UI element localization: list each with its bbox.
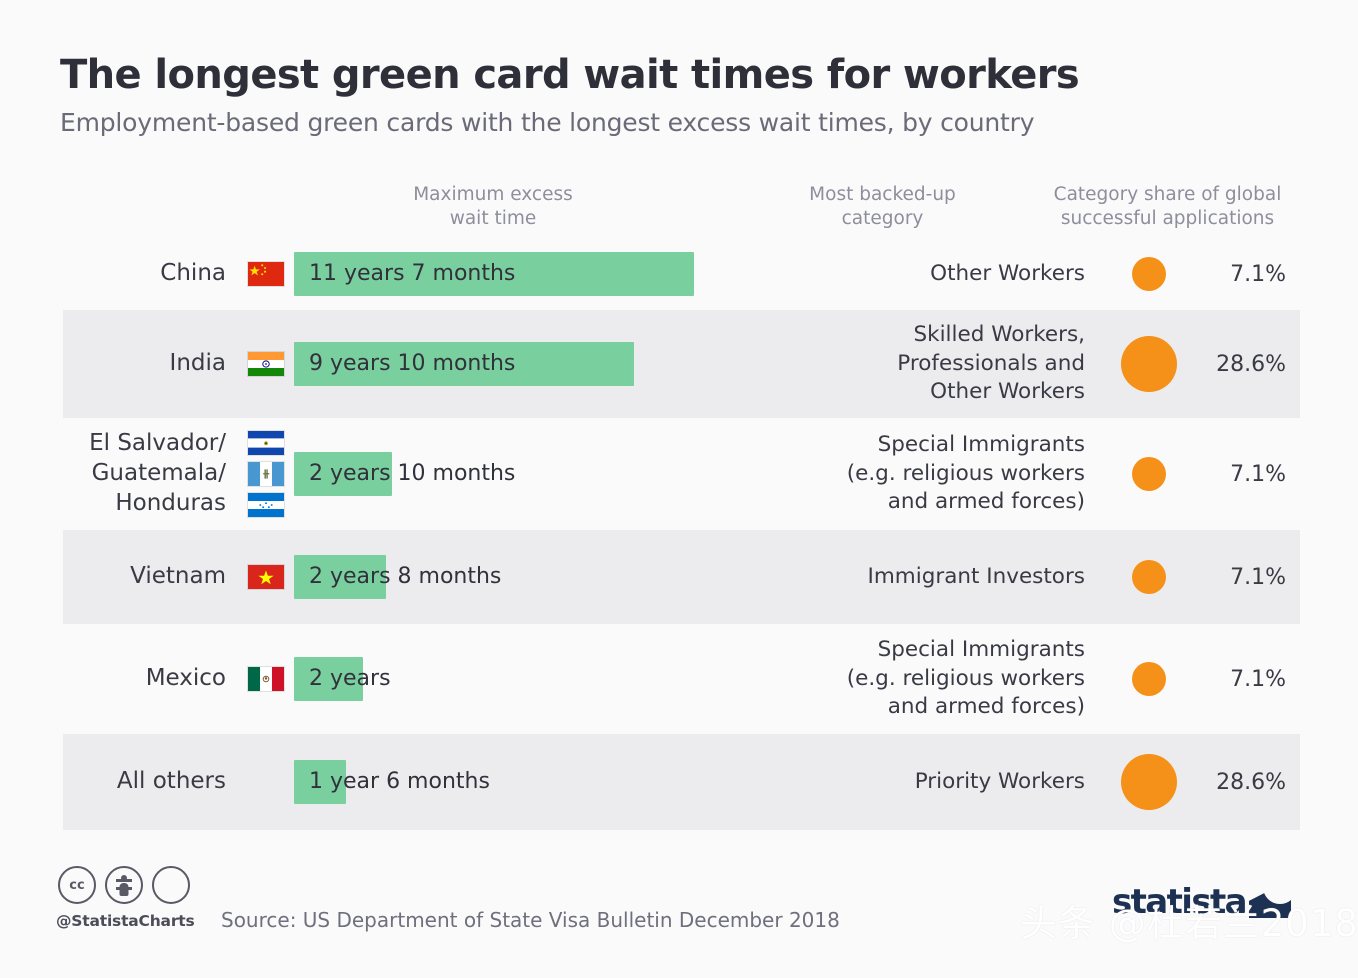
row-flag-group	[237, 430, 294, 518]
cc-by-person-icon	[105, 866, 143, 904]
cc-nd-equals-icon	[152, 866, 190, 904]
row-category-label: Special Immigrants(e.g. religious worker…	[820, 431, 1090, 517]
row-share-bubble-cell	[1090, 754, 1208, 810]
row-bar-cell: 1 year 6 months	[294, 760, 820, 804]
row-bar-cell: 11 years 7 months	[294, 252, 820, 296]
table-row: All others1 year 6 monthsPriority Worker…	[63, 734, 1300, 830]
row-share-bubble-cell	[1090, 662, 1208, 696]
row-country-label: El Salvador/Guatemala/Honduras	[63, 429, 237, 519]
row-share-percent: 7.1%	[1208, 262, 1300, 287]
row-flag-group	[237, 261, 294, 287]
flag-sv-icon	[247, 430, 285, 456]
category-line: (e.g. religious workers	[820, 665, 1085, 694]
row-flag-group	[237, 351, 294, 377]
category-line: Other Workers	[820, 378, 1085, 407]
share-bubble	[1132, 560, 1166, 594]
row-flag-group	[237, 666, 294, 692]
table-row: India9 years 10 monthsSkilled Workers,Pr…	[63, 310, 1300, 418]
row-share-percent: 28.6%	[1208, 770, 1300, 795]
row-category-label: Priority Workers	[820, 768, 1090, 797]
category-line: Professionals and	[820, 350, 1085, 379]
row-share-percent: 28.6%	[1208, 352, 1300, 377]
row-category-label: Other Workers	[820, 260, 1090, 289]
column-header-share-line2: successful applications	[1040, 207, 1295, 231]
flag-cn-icon	[247, 261, 285, 287]
row-category-label: Skilled Workers,Professionals andOther W…	[820, 321, 1090, 407]
row-share-bubble-cell	[1090, 257, 1208, 291]
column-header-category-line2: category	[775, 207, 990, 231]
wait-time-label: 2 years 8 months	[294, 555, 501, 599]
table-row: Mexico2 yearsSpecial Immigrants(e.g. rel…	[63, 624, 1300, 734]
category-line: (e.g. religious workers	[820, 460, 1085, 489]
column-header-category: Most backed-up category	[775, 183, 990, 230]
row-country-label: India	[63, 349, 237, 379]
row-bar-cell: 9 years 10 months	[294, 342, 820, 386]
country-line: Mexico	[63, 664, 226, 694]
category-line: Skilled Workers,	[820, 321, 1085, 350]
row-category-label: Special Immigrants(e.g. religious worker…	[820, 636, 1090, 722]
share-bubble	[1132, 662, 1166, 696]
column-header-wait-time-line1: Maximum excess	[393, 183, 593, 207]
country-line: El Salvador/	[63, 429, 226, 459]
flag-vn-icon	[247, 564, 285, 590]
wait-time-label: 2 years 10 months	[294, 452, 515, 496]
row-country-label: China	[63, 259, 237, 289]
row-share-percent: 7.1%	[1208, 462, 1300, 487]
column-header-share-line1: Category share of global	[1040, 183, 1295, 207]
infographic-canvas: The longest green card wait times for wo…	[0, 0, 1358, 978]
country-line: Vietnam	[63, 562, 226, 592]
category-line: Immigrant Investors	[820, 563, 1085, 592]
row-share-percent: 7.1%	[1208, 565, 1300, 590]
column-header-share: Category share of global successful appl…	[1040, 183, 1295, 230]
column-header-wait-time: Maximum excess wait time	[393, 183, 593, 230]
row-country-label: All others	[63, 767, 237, 797]
row-country-label: Mexico	[63, 664, 237, 694]
column-header-category-line1: Most backed-up	[775, 183, 990, 207]
country-line: Guatemala/	[63, 459, 226, 489]
table-row: Vietnam2 years 8 monthsImmigrant Investo…	[63, 530, 1300, 624]
country-line: All others	[63, 767, 226, 797]
category-line: Priority Workers	[820, 768, 1085, 797]
flag-in-icon	[247, 351, 285, 377]
category-line: Other Workers	[820, 260, 1085, 289]
row-bar-cell: 2 years 10 months	[294, 452, 820, 496]
category-line: and armed forces)	[820, 488, 1085, 517]
row-share-bubble-cell	[1090, 336, 1208, 392]
wait-time-label: 1 year 6 months	[294, 760, 490, 804]
wait-time-label: 9 years 10 months	[294, 342, 515, 386]
creative-commons-icons: cc	[58, 866, 190, 904]
page-subtitle: Employment-based green cards with the lo…	[60, 108, 1034, 137]
share-bubble	[1132, 257, 1166, 291]
flag-mx-icon	[247, 666, 285, 692]
share-bubble	[1121, 754, 1177, 810]
wait-time-label: 2 years	[294, 657, 391, 701]
page-title: The longest green card wait times for wo…	[60, 52, 1079, 98]
row-category-label: Immigrant Investors	[820, 563, 1090, 592]
flag-hn-icon	[247, 492, 285, 518]
row-country-label: Vietnam	[63, 562, 237, 592]
country-line: Honduras	[63, 489, 226, 519]
row-bar-cell: 2 years 8 months	[294, 555, 820, 599]
flag-gt-icon	[247, 461, 285, 487]
share-bubble	[1121, 336, 1177, 392]
category-line: Special Immigrants	[820, 431, 1085, 460]
row-bar-cell: 2 years	[294, 657, 820, 701]
row-share-bubble-cell	[1090, 560, 1208, 594]
column-header-wait-time-line2: wait time	[393, 207, 593, 231]
statista-handle: @StatistaCharts	[56, 912, 195, 930]
country-line: India	[63, 349, 226, 379]
country-line: China	[63, 259, 226, 289]
wait-time-label: 11 years 7 months	[294, 252, 515, 296]
source-note: Source: US Department of State Visa Bull…	[221, 908, 840, 932]
share-bubble	[1132, 457, 1166, 491]
category-line: Special Immigrants	[820, 636, 1085, 665]
watermark: 头条 @杜若兰2018	[1020, 905, 1358, 942]
row-flag-group	[237, 564, 294, 590]
cc-icon: cc	[58, 866, 96, 904]
row-share-percent: 7.1%	[1208, 667, 1300, 692]
table-row: China11 years 7 monthsOther Workers7.1%	[63, 238, 1300, 310]
row-share-bubble-cell	[1090, 457, 1208, 491]
category-line: and armed forces)	[820, 693, 1085, 722]
table-row: El Salvador/Guatemala/Honduras2 years 10…	[63, 418, 1300, 530]
